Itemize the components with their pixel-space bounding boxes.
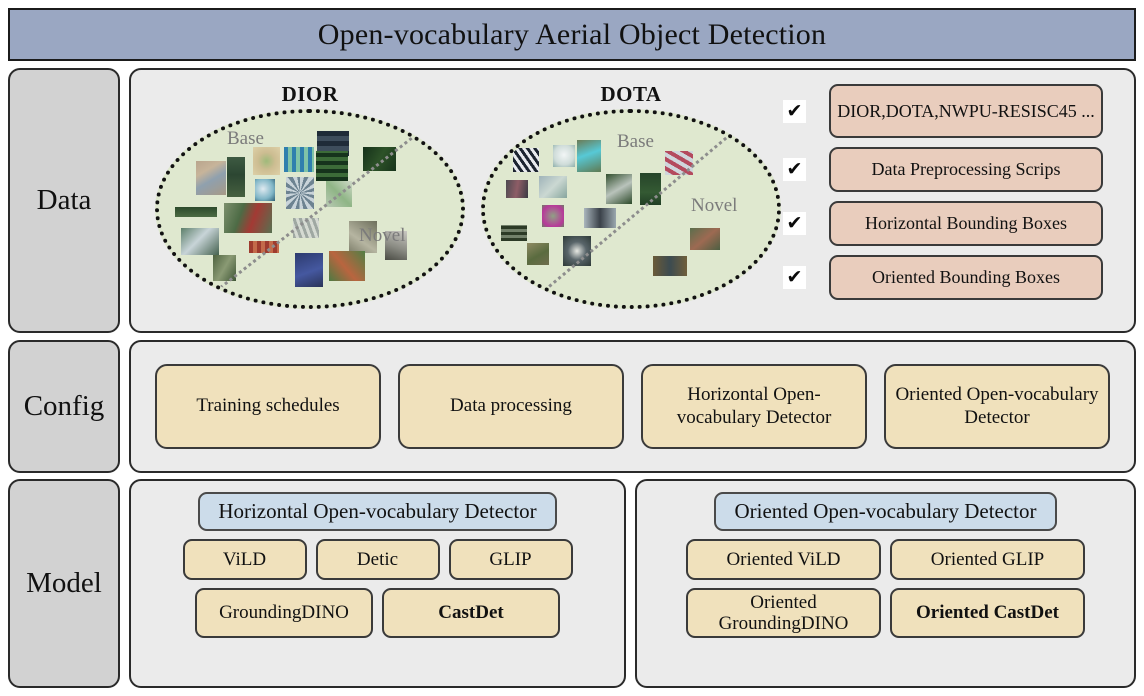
check-icon[interactable]: ✔: [783, 100, 806, 123]
checklist-label: DIOR,DOTA,NWPU-RESISC45 ...: [829, 84, 1103, 138]
model-chip-oriented-groundingdino[interactable]: Oriented GroundingDINO: [686, 588, 881, 638]
config-box-horizontal-detector[interactable]: Horizontal Open-vocabulary Detector: [641, 364, 867, 449]
dota-novel-label: Novel: [691, 195, 737, 217]
dota-ellipse-wrap: Base Novel: [481, 109, 781, 309]
row-label-data: Data: [8, 68, 120, 333]
model-chip-oriented-castdet[interactable]: Oriented CastDet: [890, 588, 1085, 638]
aerial-thumb: [255, 179, 275, 201]
config-box-list: Training schedules Data processing Horiz…: [155, 364, 1110, 449]
config-panel: Training schedules Data processing Horiz…: [129, 340, 1136, 473]
aerial-thumb: [316, 151, 348, 181]
aerial-thumb: [690, 228, 720, 250]
config-box-data-processing[interactable]: Data processing: [398, 364, 624, 449]
model-chip-vild[interactable]: ViLD: [183, 539, 307, 580]
aerial-thumb: [653, 256, 687, 276]
aerial-thumb: [175, 207, 217, 217]
dataset-dota-title: DOTA: [481, 82, 781, 107]
model-chip-glip[interactable]: GLIP: [449, 539, 573, 580]
dior-ellipse: Base Novel: [155, 109, 465, 309]
dataset-dota: DOTA Base Novel: [481, 82, 781, 309]
row-label-config: Config: [8, 340, 120, 473]
data-checklist: ✔ DIOR,DOTA,NWPU-RESISC45 ... ✔ Data Pre…: [783, 84, 1103, 309]
model-chip-groundingdino[interactable]: GroundingDINO: [195, 588, 373, 638]
check-icon[interactable]: ✔: [783, 212, 806, 235]
aerial-thumb: [295, 253, 323, 287]
dataset-dior: DIOR Base Novel: [155, 82, 465, 309]
model-chip-row: GroundingDINO CastDet: [145, 588, 610, 638]
horizontal-detector-header[interactable]: Horizontal Open-vocabulary Detector: [198, 492, 556, 531]
row-label-model-text: Model: [26, 567, 102, 600]
model-chip-row: Oriented ViLD Oriented GLIP: [651, 539, 1120, 580]
data-panel: DIOR Base Novel: [129, 68, 1136, 333]
model-chip-row: ViLD Detic GLIP: [145, 539, 610, 580]
page-title-bar: Open-vocabulary Aerial Object Detection: [8, 8, 1136, 61]
aerial-thumb: [196, 161, 226, 195]
model-chip-castdet[interactable]: CastDet: [382, 588, 560, 638]
aerial-thumb: [227, 157, 245, 197]
aerial-thumb: [527, 243, 549, 265]
checklist-item[interactable]: ✔ Horizontal Bounding Boxes: [783, 201, 1103, 246]
model-chip-row: Oriented GroundingDINO Oriented CastDet: [651, 588, 1120, 638]
checklist-label: Horizontal Bounding Boxes: [829, 201, 1103, 246]
model-panels: Horizontal Open-vocabulary Detector ViLD…: [129, 479, 1136, 688]
model-panel-horizontal: Horizontal Open-vocabulary Detector ViLD…: [129, 479, 626, 688]
aerial-thumb: [224, 203, 272, 233]
check-icon[interactable]: ✔: [783, 158, 806, 181]
aerial-thumb: [181, 228, 219, 255]
aerial-thumb: [553, 145, 575, 167]
dota-ellipse: Base Novel: [481, 109, 781, 309]
aerial-thumb: [542, 205, 564, 227]
aerial-thumb: [253, 147, 280, 175]
model-chip-oriented-vild[interactable]: Oriented ViLD: [686, 539, 881, 580]
config-box-training-schedules[interactable]: Training schedules: [155, 364, 381, 449]
aerial-thumb: [513, 148, 539, 172]
checklist-item[interactable]: ✔ DIOR,DOTA,NWPU-RESISC45 ...: [783, 84, 1103, 138]
aerial-thumb: [606, 174, 632, 204]
config-box-oriented-detector[interactable]: Oriented Open-vocabulary Detector: [884, 364, 1110, 449]
oriented-detector-header[interactable]: Oriented Open-vocabulary Detector: [714, 492, 1056, 531]
checklist-label: Oriented Bounding Boxes: [829, 255, 1103, 300]
checklist-item[interactable]: ✔ Data Preprocessing Scrips: [783, 147, 1103, 192]
aerial-thumb: [363, 147, 396, 171]
model-chip-detic[interactable]: Detic: [316, 539, 440, 580]
checklist-item[interactable]: ✔ Oriented Bounding Boxes: [783, 255, 1103, 300]
checklist-label: Data Preprocessing Scrips: [829, 147, 1103, 192]
aerial-thumb: [665, 151, 693, 175]
config-row: Config Training schedules Data processin…: [8, 340, 1136, 473]
dota-base-label: Base: [617, 131, 654, 153]
model-chip-oriented-glip[interactable]: Oriented GLIP: [890, 539, 1085, 580]
dior-novel-label: Novel: [359, 225, 405, 247]
aerial-thumb: [577, 140, 601, 172]
row-label-data-text: Data: [37, 184, 92, 217]
row-label-config-text: Config: [24, 390, 105, 423]
aerial-thumb: [329, 251, 365, 281]
page-title: Open-vocabulary Aerial Object Detection: [318, 18, 826, 52]
model-panel-oriented: Oriented Open-vocabulary Detector Orient…: [635, 479, 1136, 688]
check-icon[interactable]: ✔: [783, 266, 806, 289]
aerial-thumb: [284, 147, 314, 172]
aerial-thumb: [539, 176, 567, 198]
aerial-thumb: [506, 180, 528, 198]
row-label-model: Model: [8, 479, 120, 688]
model-row: Model Horizontal Open-vocabulary Detecto…: [8, 479, 1136, 688]
aerial-thumb: [584, 208, 616, 228]
dataset-dior-title: DIOR: [155, 82, 465, 107]
aerial-thumb: [286, 177, 314, 209]
dior-ellipse-wrap: Base Novel: [155, 109, 465, 309]
dior-base-label: Base: [227, 128, 264, 150]
aerial-thumb: [501, 225, 527, 241]
diagram-root: Open-vocabulary Aerial Object Detection …: [0, 0, 1144, 696]
data-row: Data DIOR Base Novel: [8, 68, 1136, 333]
